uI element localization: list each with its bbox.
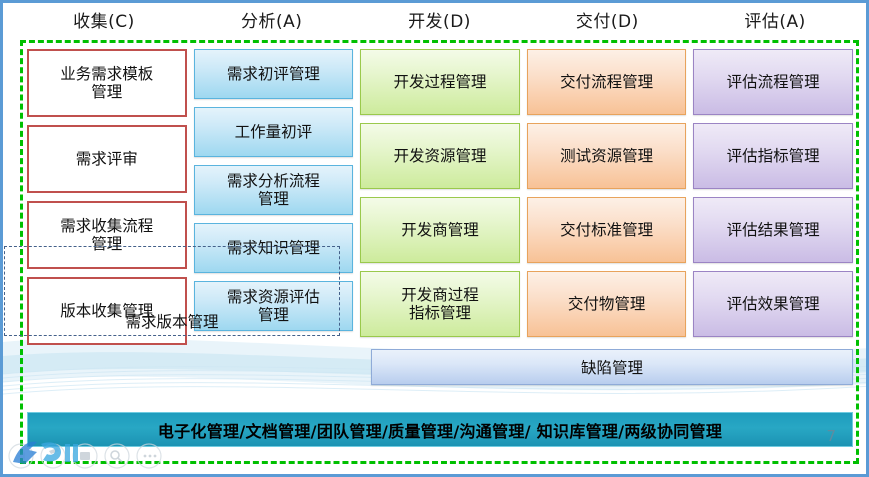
card-delivery-standard[interactable]: 交付标准管理 (527, 197, 687, 263)
column-header-analysis: 分析(A) (188, 7, 356, 37)
card-requirement-initial-review[interactable]: 需求初评管理 (194, 49, 354, 99)
slide-canvas: 收集(C) 分析(A) 开发(D) 交付(D) 评估(A) 业务需求模板 管理 … (0, 0, 869, 477)
card-deliverable[interactable]: 交付物管理 (527, 271, 687, 337)
card-developer-vendor[interactable]: 开发商管理 (360, 197, 520, 263)
card-test-resource[interactable]: 测试资源管理 (527, 123, 687, 189)
column-analysis: 需求初评管理 工作量初评 需求分析流程 管理 需求知识管理 需求资源评估 管理 (194, 49, 354, 404)
column-headers: 收集(C) 分析(A) 开发(D) 交付(D) 评估(A) (20, 7, 859, 37)
defect-management-bar[interactable]: 缺陷管理 (371, 349, 853, 385)
card-workload-initial-estimate[interactable]: 工作量初评 (194, 107, 354, 157)
card-business-requirement-template[interactable]: 业务需求模板 管理 (27, 49, 187, 117)
requirement-version-group-label: 需求版本管理 (5, 310, 339, 332)
card-delivery-process[interactable]: 交付流程管理 (527, 49, 687, 115)
card-development-process[interactable]: 开发过程管理 (360, 49, 520, 115)
card-evaluation-effect[interactable]: 评估效果管理 (693, 271, 853, 337)
foundation-services-bar: 电子化管理/文档管理/团队管理/质量管理/沟通管理/ 知识库管理/两级协同管理 … (27, 412, 853, 447)
card-developer-process-metrics[interactable]: 开发商过程 指标管理 (360, 271, 520, 337)
foundation-services-label: 电子化管理/文档管理/团队管理/质量管理/沟通管理/ 知识库管理/两级协同管理 (158, 418, 722, 442)
card-requirement-review[interactable]: 需求评审 (27, 125, 187, 193)
defect-management-label: 缺陷管理 (581, 356, 643, 378)
column-header-development: 开发(D) (356, 7, 524, 37)
card-requirement-analysis-process[interactable]: 需求分析流程 管理 (194, 165, 354, 215)
page-number: 7 (826, 427, 836, 445)
card-evaluation-result[interactable]: 评估结果管理 (693, 197, 853, 263)
card-evaluation-metrics[interactable]: 评估指标管理 (693, 123, 853, 189)
column-header-evaluation: 评估(A) (691, 7, 859, 37)
requirement-version-group: 需求版本管理 (4, 246, 340, 336)
column-header-delivery: 交付(D) (523, 7, 691, 37)
column-collect: 业务需求模板 管理 需求评审 需求收集流程 管理 版本收集管理 (27, 49, 187, 404)
column-header-collect: 收集(C) (20, 7, 188, 37)
card-evaluation-process[interactable]: 评估流程管理 (693, 49, 853, 115)
card-development-resource[interactable]: 开发资源管理 (360, 123, 520, 189)
